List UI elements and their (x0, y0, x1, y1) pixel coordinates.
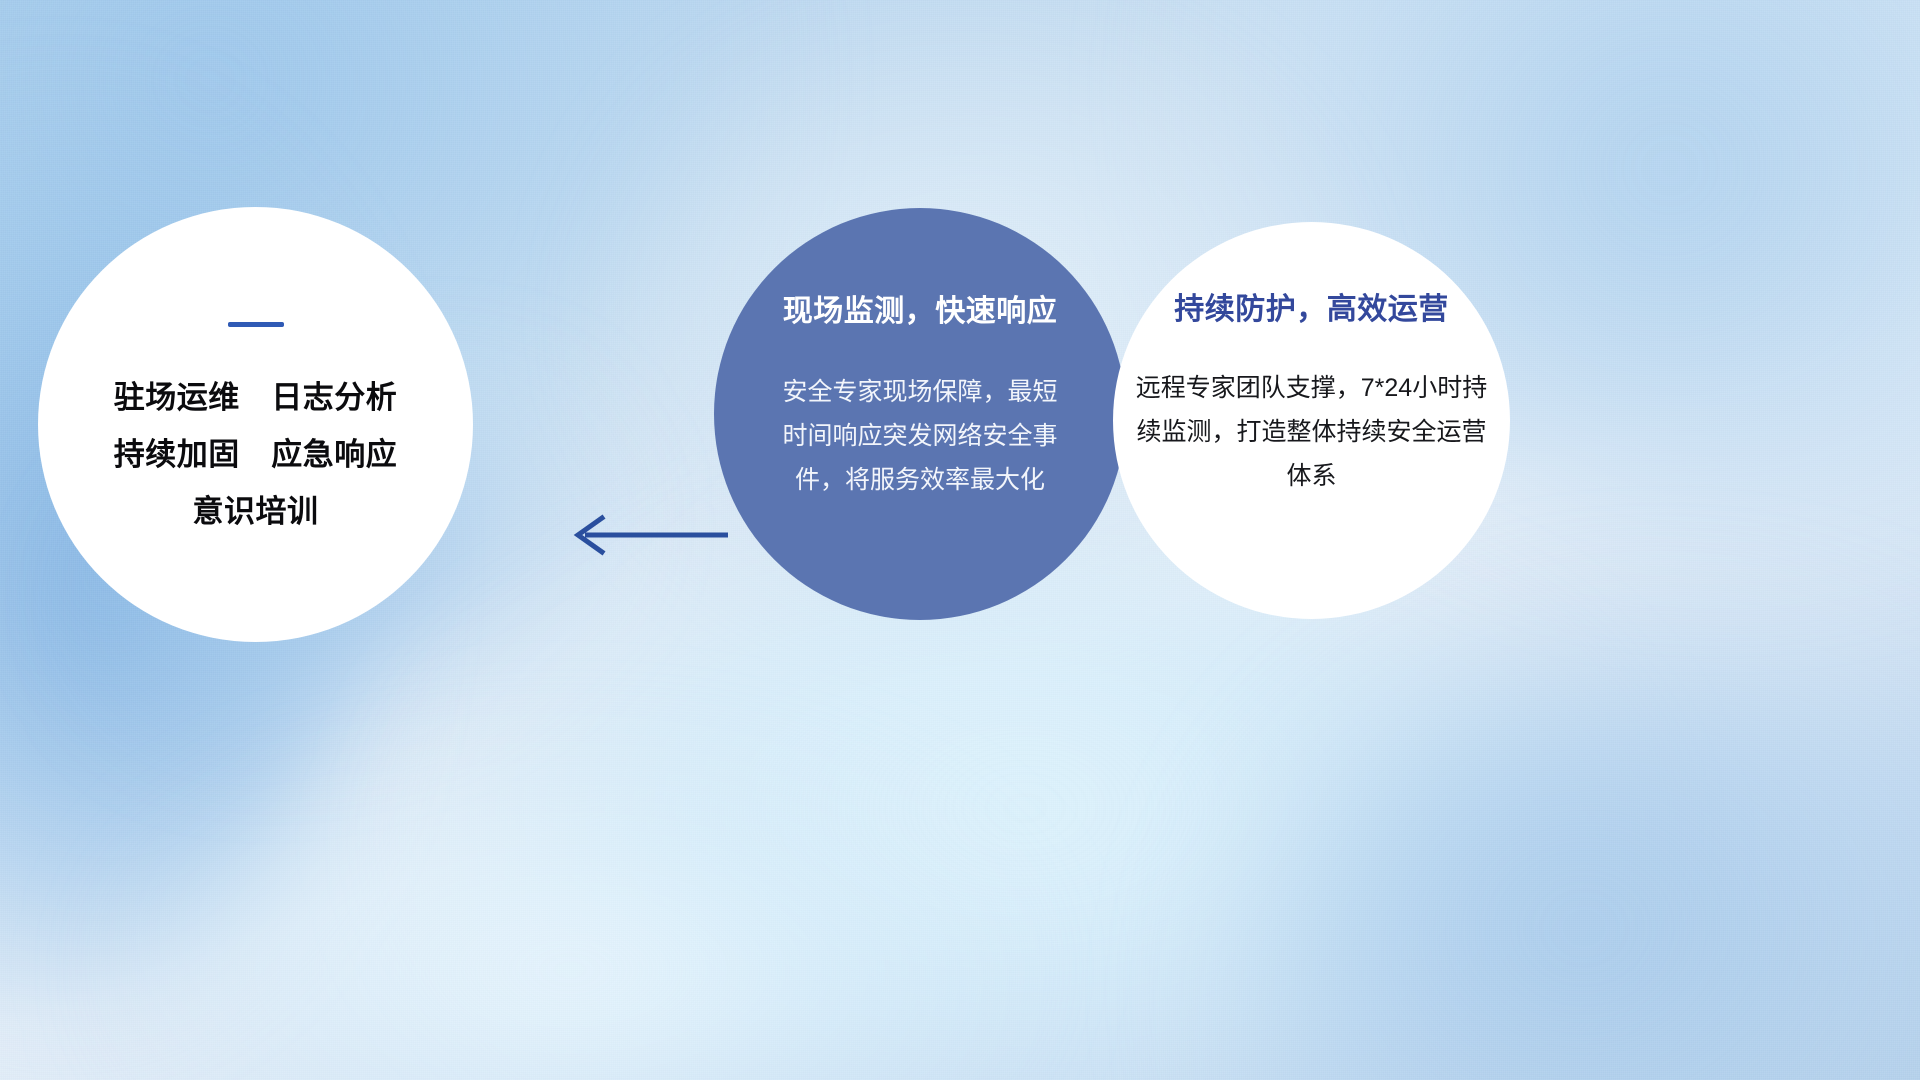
onsite-monitoring-body: 安全专家现场保障，最短时间响应突发网络安全事件，将服务效率最大化 (776, 370, 1064, 502)
capabilities-line-1: 驻场运维 日志分析 (114, 369, 398, 426)
capabilities-list: 驻场运维 日志分析 持续加固 应急响应 意识培训 (114, 369, 398, 540)
node-continuous-protection-content: 持续防护，高效运营 远程专家团队支撑，7*24小时持续监测，打造整体持续安全运营… (1113, 222, 1510, 619)
diagram-canvas: 驻场运维 日志分析 持续加固 应急响应 意识培训 现场监测，快速响应 安全专家现… (0, 0, 1920, 1080)
left-pointing-arrow-icon (490, 505, 730, 565)
onsite-monitoring-title: 现场监测，快速响应 (783, 286, 1058, 330)
node-capabilities-content: 驻场运维 日志分析 持续加固 应急响应 意识培训 (38, 207, 473, 642)
node-onsite-monitoring-content: 现场监测，快速响应 安全专家现场保障，最短时间响应突发网络安全事件，将服务效率最… (714, 208, 1126, 620)
capabilities-line-2: 持续加固 应急响应 (114, 426, 398, 483)
divider-dash (228, 322, 284, 327)
capabilities-line-3: 意识培训 (114, 483, 398, 540)
continuous-protection-title: 持续防护，高效运营 (1174, 284, 1449, 328)
continuous-protection-body: 远程专家团队支撑，7*24小时持续监测，打造整体持续安全运营体系 (1134, 366, 1490, 498)
